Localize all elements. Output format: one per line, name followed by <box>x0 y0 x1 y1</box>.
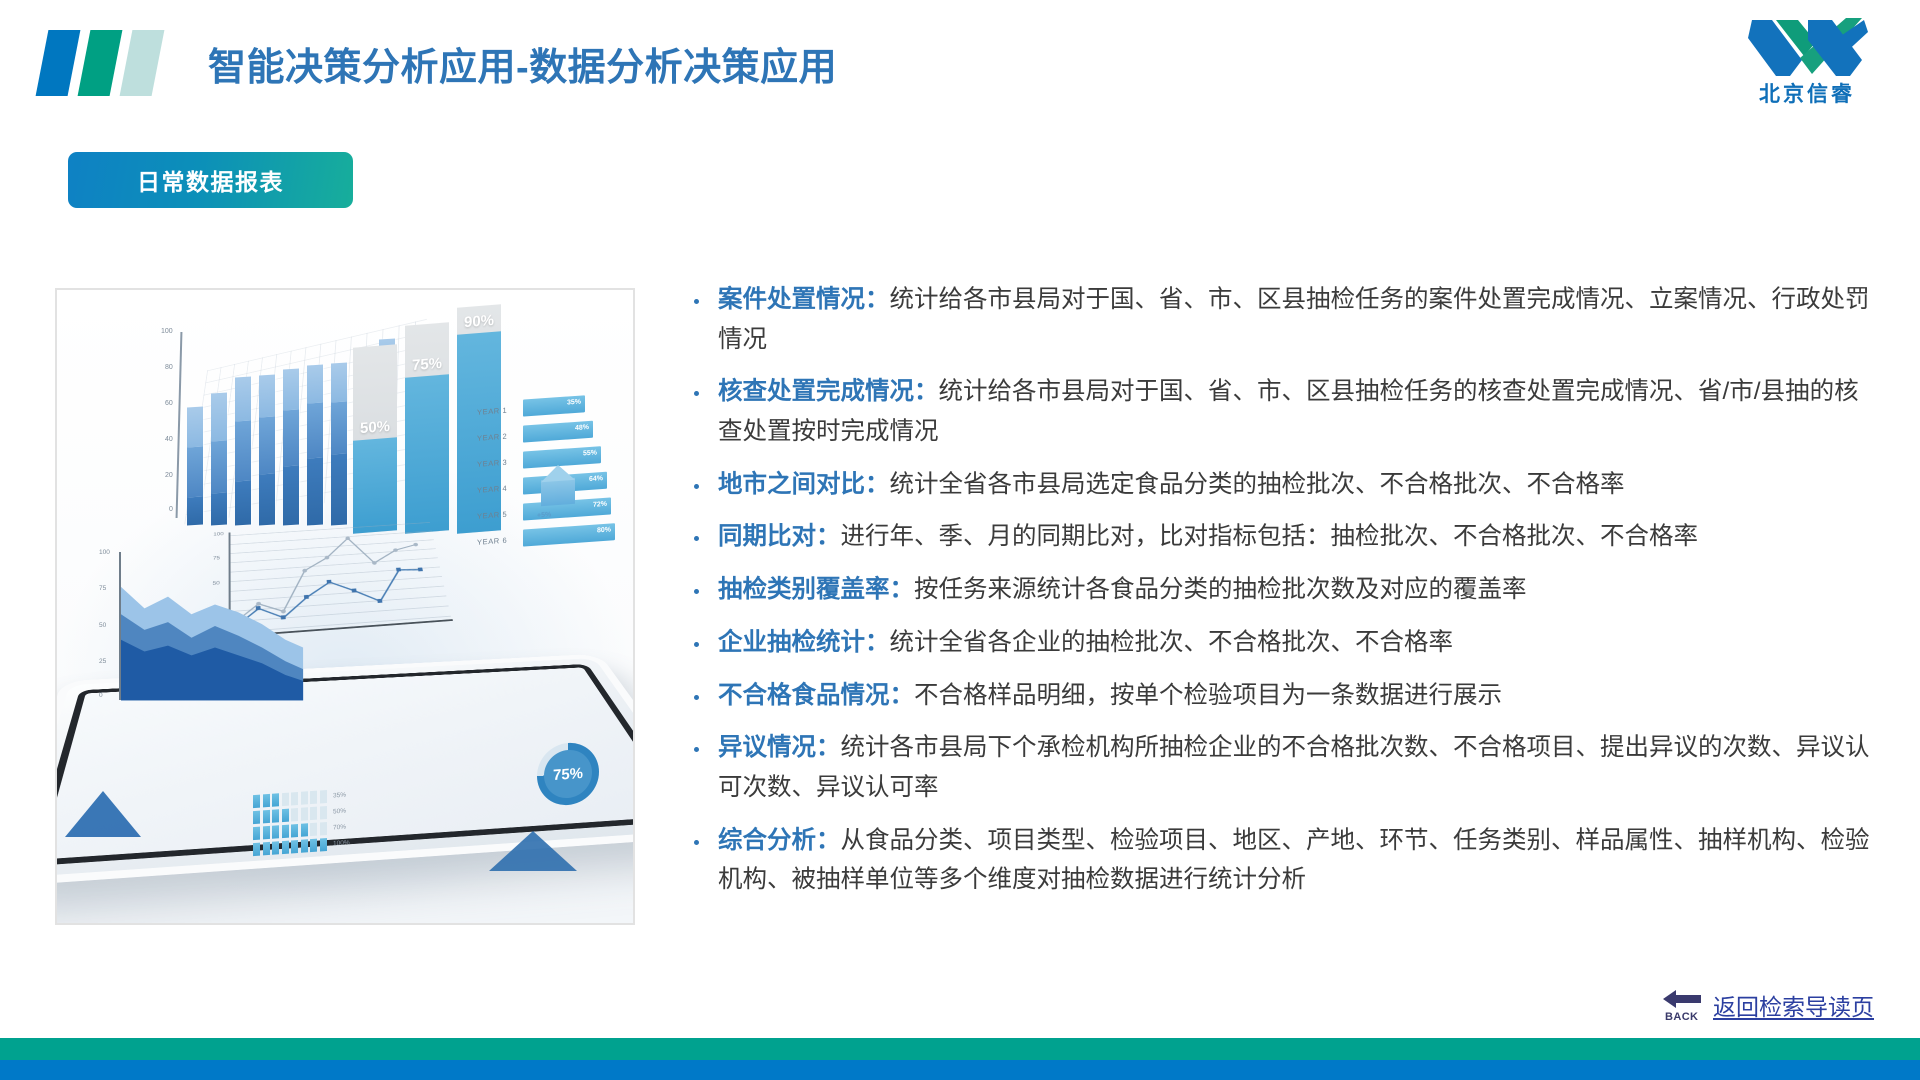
footer-stripe-teal <box>0 1038 1920 1060</box>
axis-tick-80: 80 <box>165 364 173 371</box>
percent-column: 50% <box>353 344 397 533</box>
year-bar-label: YEAR 4 <box>477 484 507 495</box>
stacked-bar <box>211 392 227 525</box>
list-item-desc: 从食品分类、项目类型、检验项目、地区、产地、环节、任务类别、样品属性、抽样机构、… <box>718 827 1870 894</box>
list-item: 异议情况：统计各市县局下个承检机构所抽检企业的不合格批次数、不合格项目、提出异议… <box>690 728 1875 807</box>
growth-arrow-icon: +5% <box>541 464 575 506</box>
back-label: BACK <box>1665 1011 1698 1023</box>
line-tick-100: 100 <box>213 531 223 537</box>
back-link-text[interactable]: 返回检索导读页 <box>1713 988 1874 1022</box>
list-item-desc: 统计全省各市县局选定食品分类的抽检批次、不合格批次、不合格率 <box>890 471 1625 498</box>
waffle-label: 35% <box>333 792 346 800</box>
list-item: 核查处置完成情况：统计给各市县局对于国、省、市、区县抽检任务的核查处置完成情况、… <box>690 372 1875 451</box>
year-bar-value: 80% <box>597 526 611 534</box>
list-item-title: 同期比对： <box>718 523 841 550</box>
area-tick-0: 0 <box>99 692 103 699</box>
percent-column-label: 90% <box>457 311 501 331</box>
list-item: 地市之间对比：统计全省各市县局选定食品分类的抽检批次、不合格批次、不合格率 <box>690 465 1875 505</box>
waffle-chart: 35% 50% 70% 100% <box>253 787 371 859</box>
stacked-bar <box>283 368 299 525</box>
list-item: 抽检类别覆盖率：按任务来源统计各食品分类的抽检批次数及对应的覆盖率 <box>690 570 1875 610</box>
stacked-bar <box>259 374 275 525</box>
year-bar-label: YEAR 1 <box>477 406 507 417</box>
chart-y-axis <box>176 332 183 518</box>
percent-column-label: 75% <box>405 354 449 374</box>
stacked-bar <box>187 406 203 525</box>
company-name: 北京信睿 <box>1732 78 1882 108</box>
footer-stripe-blue <box>0 1060 1920 1080</box>
dashboard-illustration: 100 80 60 40 20 0 <box>57 290 633 923</box>
stacked-bar <box>331 362 347 525</box>
year-bar-label: YEAR 6 <box>477 536 507 547</box>
area-tick-100: 100 <box>99 549 110 556</box>
back-icon-group[interactable]: BACK <box>1661 988 1705 1022</box>
list-item-title: 不合格食品情况： <box>718 682 914 709</box>
stacked-bar <box>307 364 323 525</box>
area-chart-series <box>121 552 307 702</box>
list-item: 案件处置情况：统计给各市县局对于国、省、市、区县抽检任务的案件处置完成情况、立案… <box>690 280 1875 359</box>
axis-tick-40: 40 <box>165 436 173 443</box>
section-badge: 日常数据报表 <box>68 152 353 208</box>
list-item: 企业抽检统计：统计全省各企业的抽检批次、不合格批次、不合格率 <box>690 623 1875 663</box>
list-item-title: 地市之间对比： <box>718 471 890 498</box>
list-item: 综合分析：从食品分类、项目类型、检验项目、地区、产地、环节、任务类别、样品属性、… <box>690 821 1875 900</box>
growth-value: +5% <box>537 511 551 519</box>
list-item: 同期比对：进行年、季、月的同期比对，比对指标包括：抽检批次、不合格批次、不合格率 <box>690 517 1875 557</box>
back-arrow-icon[interactable] <box>1663 989 1701 1009</box>
list-item-desc: 进行年、季、月的同期比对，比对指标包括：抽检批次、不合格批次、不合格率 <box>841 523 1699 550</box>
list-item-desc: 统计各市县局下个承检机构所抽检企业的不合格批次数、不合格项目、提出异议的次数、异… <box>718 734 1870 801</box>
axis-tick-20: 20 <box>165 472 173 479</box>
header-decor-bars <box>40 30 170 96</box>
year-bar-value: 72% <box>593 501 607 509</box>
list-item-title: 抽检类别覆盖率： <box>718 576 914 603</box>
list-item-desc: 统计给各市县局对于国、省、市、区县抽检任务的案件处置完成情况、立案情况、行政处罚… <box>718 286 1870 353</box>
page-title: 智能决策分析应用-数据分析决策应用 <box>208 36 837 91</box>
axis-tick-0: 0 <box>169 506 173 513</box>
header-bar-teal <box>78 30 123 96</box>
axis-tick-100: 100 <box>161 328 173 335</box>
feature-list: 案件处置情况：统计给各市县局对于国、省、市、区县抽检任务的案件处置完成情况、立案… <box>690 280 1875 913</box>
area-tick-75: 75 <box>99 585 106 592</box>
list-item-title: 异议情况： <box>718 734 841 761</box>
illustration-frame: 100 80 60 40 20 0 <box>55 288 635 925</box>
area-tick-25: 25 <box>99 658 106 665</box>
list-item-desc: 按任务来源统计各食品分类的抽检批次数及对应的覆盖率 <box>914 576 1527 603</box>
list-item-title: 案件处置情况： <box>718 286 890 313</box>
list-item: 不合格食品情况：不合格样品明细，按单个检验项目为一条数据进行展示 <box>690 676 1875 716</box>
year-bar-value: 55% <box>583 449 597 457</box>
list-item-desc: 不合格样品明细，按单个检验项目为一条数据进行展示 <box>914 682 1502 709</box>
xr-logo-mark-icon <box>1746 16 1868 78</box>
year-bar-label: YEAR 5 <box>477 510 507 521</box>
percent-column: 75% <box>405 322 449 533</box>
back-link[interactable]: BACK 返回检索导读页 <box>1661 988 1874 1022</box>
list-item-desc: 统计全省各企业的抽检批次、不合格批次、不合格率 <box>890 629 1454 656</box>
year-bar-label: YEAR 3 <box>477 458 507 469</box>
axis-tick-60: 60 <box>165 400 173 407</box>
waffle-label: 70% <box>333 824 346 832</box>
waffle-label: 100% <box>333 839 350 847</box>
percent-column-label: 50% <box>353 417 397 437</box>
decor-triangle-right <box>489 831 577 871</box>
stacked-bar <box>235 376 251 525</box>
list-item-title: 综合分析： <box>718 827 841 854</box>
list-item-title: 核查处置完成情况： <box>718 378 939 405</box>
list-item-title: 企业抽检统计： <box>718 629 890 656</box>
page-header: 智能决策分析应用-数据分析决策应用 北京信睿 <box>0 0 1920 128</box>
year-bar-value: 35% <box>567 399 581 407</box>
header-bar-blue <box>36 30 81 96</box>
donut-gauge-value: 75% <box>553 764 583 783</box>
company-logo: 北京信睿 <box>1732 16 1882 114</box>
decor-triangle-left <box>65 791 141 837</box>
year-bar-value: 48% <box>575 424 589 432</box>
area-chart: 100 75 50 25 0 <box>95 552 310 722</box>
section-badge-label: 日常数据报表 <box>137 163 284 197</box>
waffle-label: 50% <box>333 808 346 816</box>
year-bar-value: 64% <box>589 475 603 483</box>
header-bar-lightblue <box>120 30 165 96</box>
area-tick-50: 50 <box>99 622 106 629</box>
year-bar-label: YEAR 2 <box>477 432 507 443</box>
